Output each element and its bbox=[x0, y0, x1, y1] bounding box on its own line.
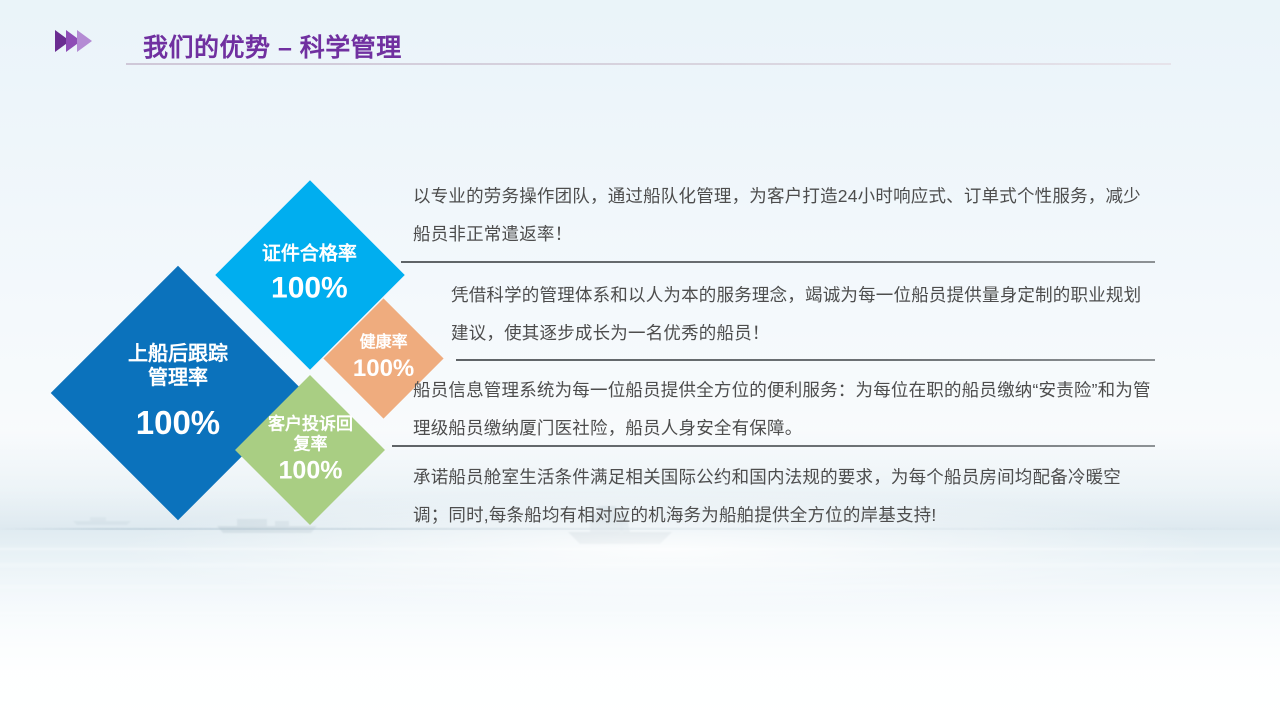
paragraph-4: 承诺船员舱室生活条件满足相关国际公约和国内法规的要求，为每个船员房间均配备冷暖空… bbox=[413, 458, 1155, 534]
paragraph-3: 船员信息管理系统为每一位船员提供全方位的便利服务：为每位在职的船员缴纳“安责险”… bbox=[413, 371, 1155, 447]
slide-canvas: 我们的优势 – 科学管理 上船后跟踪 管理率 100% 证件合格率 100% 健… bbox=[0, 0, 1280, 720]
paragraph-divider-1 bbox=[401, 261, 1155, 263]
paragraph-2: 凭借科学的管理体系和以人为本的服务理念，竭诚为每一位船员提供量身定制的职业规划建… bbox=[451, 276, 1156, 352]
text-column: 以专业的劳务操作团队，通过船队化管理，为客户打造24小时响应式、订单式个性服务，… bbox=[0, 0, 1280, 720]
paragraph-divider-3 bbox=[392, 445, 1155, 447]
paragraph-divider-2 bbox=[456, 359, 1155, 361]
paragraph-1: 以专业的劳务操作团队，通过船队化管理，为客户打造24小时响应式、订单式个性服务，… bbox=[413, 177, 1155, 253]
